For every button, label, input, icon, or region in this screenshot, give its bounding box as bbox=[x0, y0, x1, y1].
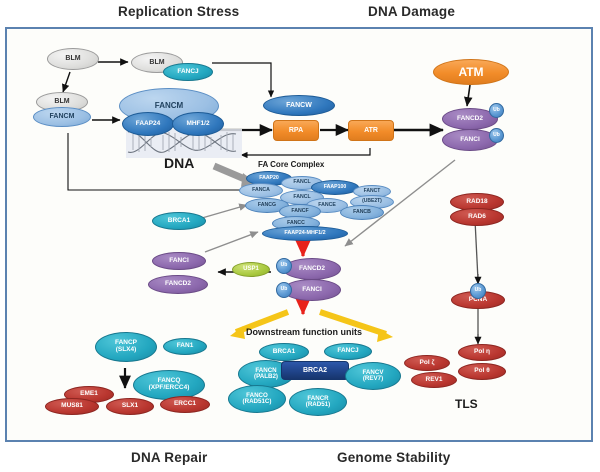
node-fancr-alias: (RAD51) bbox=[306, 402, 330, 408]
diagram-canvas: Replication Stress DNA Damage DNA Repair… bbox=[0, 0, 600, 472]
header-genome-stability: Genome Stability bbox=[337, 450, 450, 465]
node-fancq[interactable]: FANCQ (XPF/ERCC4) bbox=[133, 370, 205, 400]
node-rev1[interactable]: REV1 bbox=[411, 372, 457, 388]
header-dna-damage: DNA Damage bbox=[368, 4, 455, 19]
node-mhf12[interactable]: MHF1/2 bbox=[172, 112, 224, 136]
node-fan1[interactable]: FAN1 bbox=[163, 338, 207, 355]
node-mus81[interactable]: MUS81 bbox=[45, 398, 99, 415]
node-pol-zeta[interactable]: Pol ζ bbox=[404, 355, 450, 371]
node-fanco-alias: (RAD51C) bbox=[243, 399, 272, 405]
node-fancm-left[interactable]: FANCM bbox=[33, 107, 91, 127]
node-rpa[interactable]: RPA bbox=[273, 120, 319, 141]
node-ercc1[interactable]: ERCC1 bbox=[160, 396, 210, 413]
node-faap24[interactable]: FAAP24 bbox=[122, 112, 174, 136]
node-ub-fancd2-mid[interactable]: Ub bbox=[276, 258, 292, 274]
node-slx1[interactable]: SLX1 bbox=[106, 398, 154, 415]
node-fancd2-left[interactable]: FANCD2 bbox=[148, 275, 208, 294]
node-fancd2-mid[interactable]: FANCD2 bbox=[283, 258, 341, 280]
node-fancj-downstream[interactable]: FANCJ bbox=[324, 343, 372, 360]
node-ub-fancd2-top[interactable]: Ub bbox=[489, 103, 504, 118]
node-brca2[interactable]: BRCA2 bbox=[281, 361, 349, 380]
node-fancp[interactable]: FANCP (SLX4) bbox=[95, 332, 157, 362]
node-fancw[interactable]: FANCW bbox=[263, 95, 335, 116]
node-blm-1[interactable]: BLM bbox=[47, 48, 99, 70]
node-pol-theta[interactable]: Pol θ bbox=[458, 363, 506, 380]
node-ub-fanci-top[interactable]: Ub bbox=[489, 128, 504, 143]
node-fancb[interactable]: FANCB bbox=[340, 205, 384, 220]
node-fancq-alias: (XPF/ERCC4) bbox=[149, 385, 190, 392]
node-fanco[interactable]: FANCO (RAD51C) bbox=[228, 385, 286, 413]
node-pol-eta[interactable]: Pol η bbox=[458, 344, 506, 361]
node-fancn-alias: (PALB2) bbox=[254, 374, 278, 380]
node-fanca[interactable]: FANCA bbox=[239, 183, 283, 198]
caption-downstream-function-units: Downstream function units bbox=[246, 327, 362, 337]
node-fancp-alias: (SLX4) bbox=[116, 347, 137, 354]
node-fanci-left[interactable]: FANCI bbox=[152, 252, 206, 270]
node-brca1-left[interactable]: BRCA1 bbox=[152, 212, 206, 230]
caption-dna: DNA bbox=[164, 155, 194, 171]
node-atr[interactable]: ATR bbox=[348, 120, 394, 141]
node-fancj-top[interactable]: FANCJ bbox=[163, 63, 213, 81]
header-replication-stress: Replication Stress bbox=[118, 4, 239, 19]
node-usp1[interactable]: USP1 bbox=[232, 262, 270, 277]
node-fancv-alias: (REV7) bbox=[363, 376, 383, 382]
node-fancr[interactable]: FANCR (RAD51) bbox=[289, 388, 347, 416]
node-fancv[interactable]: FANCV (REV7) bbox=[345, 362, 401, 390]
node-rad6[interactable]: RAD6 bbox=[450, 208, 504, 226]
node-faap24-mhf12-core[interactable]: FAAP24-MHF1/2 bbox=[262, 226, 348, 241]
node-ub-fanci-mid[interactable]: Ub bbox=[276, 282, 292, 298]
caption-tls: TLS bbox=[455, 397, 478, 411]
node-brca1-downstream[interactable]: BRCA1 bbox=[259, 343, 309, 361]
header-dna-repair: DNA Repair bbox=[131, 450, 208, 465]
node-ub-pcna[interactable]: Ub bbox=[470, 283, 486, 299]
caption-fa-core-complex: FA Core Complex bbox=[258, 160, 324, 169]
node-atm[interactable]: ATM bbox=[433, 59, 509, 85]
